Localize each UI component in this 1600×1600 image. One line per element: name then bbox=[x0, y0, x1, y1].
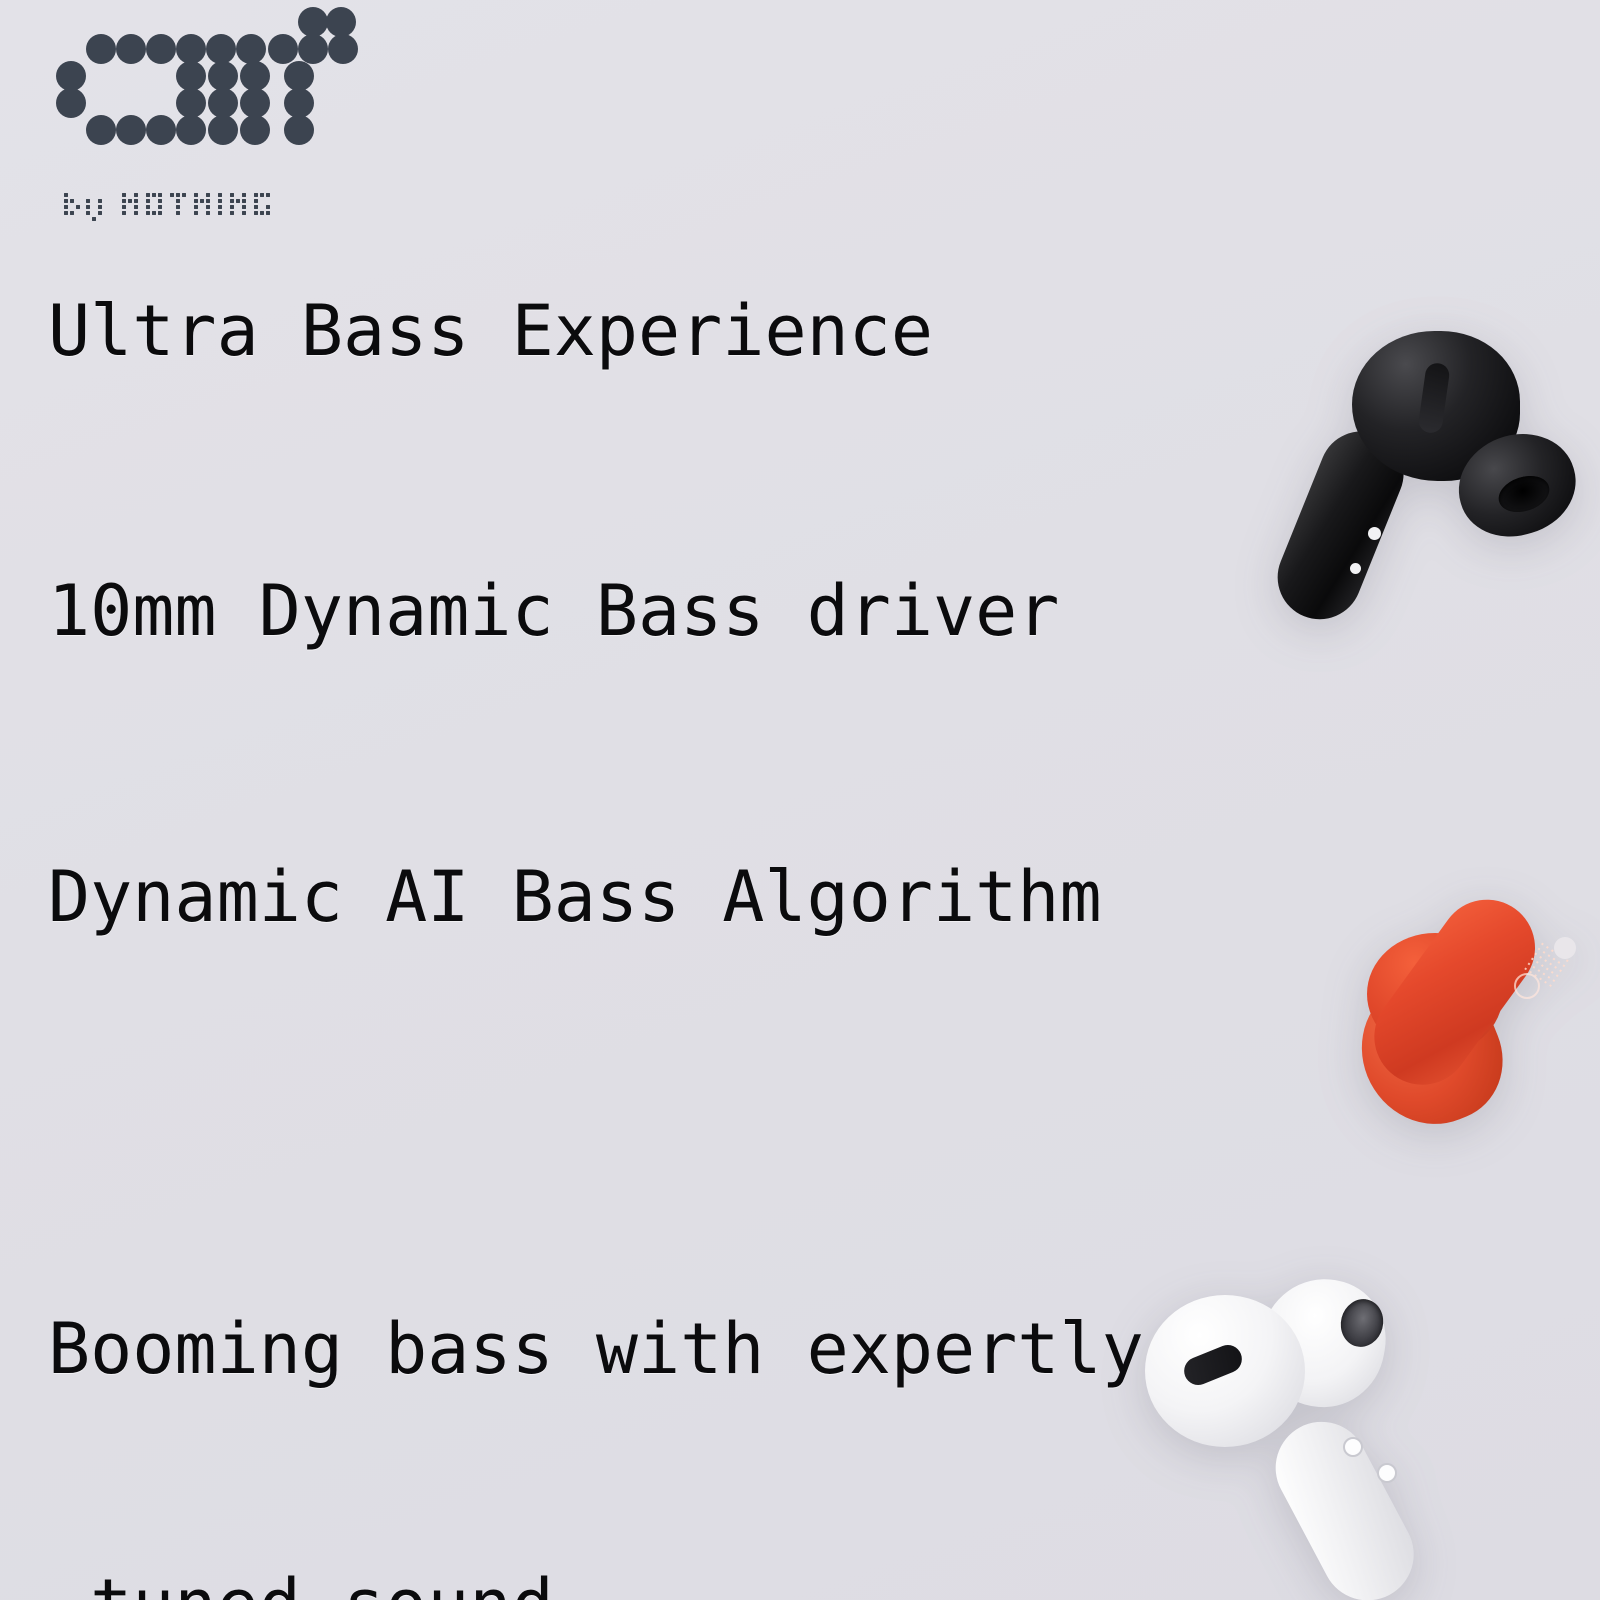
earbud-white-image bbox=[1115, 1275, 1445, 1595]
earbud-white-contact-2 bbox=[1377, 1463, 1397, 1483]
brand-subtitle: by NOTHING bbox=[64, 193, 304, 223]
brand-logo: by NOTHING bbox=[52, 34, 392, 223]
earbud-orange-touch-ring bbox=[1514, 973, 1540, 999]
earbud-orange-image bbox=[1315, 895, 1600, 1185]
promo-canvas: by NOTHING Ultra Bass Experience 10mm Dy… bbox=[0, 0, 1600, 1600]
feature-line-2: Dynamic AI Bass Algorithm bbox=[48, 862, 1102, 932]
earbud-black-contact-2 bbox=[1350, 563, 1361, 574]
cmf-wordmark-dotmatrix bbox=[52, 34, 342, 169]
earbud-black-image bbox=[1300, 325, 1600, 625]
earbud-white-contact-1 bbox=[1343, 1437, 1363, 1457]
headline: Ultra Bass Experience bbox=[48, 296, 933, 366]
feature-line-3: Booming bass with expertly- -tuned sound bbox=[48, 1136, 1186, 1600]
earbud-black-contact-1 bbox=[1368, 527, 1381, 540]
feature-line-3a: Booming bass with expertly- bbox=[48, 1307, 1186, 1392]
earbud-white-stem bbox=[1259, 1406, 1429, 1600]
feature-line-1: 10mm Dynamic Bass driver bbox=[48, 576, 1059, 646]
feature-line-3b: -tuned sound bbox=[48, 1563, 1186, 1600]
earbud-orange-indicator bbox=[1554, 937, 1576, 959]
